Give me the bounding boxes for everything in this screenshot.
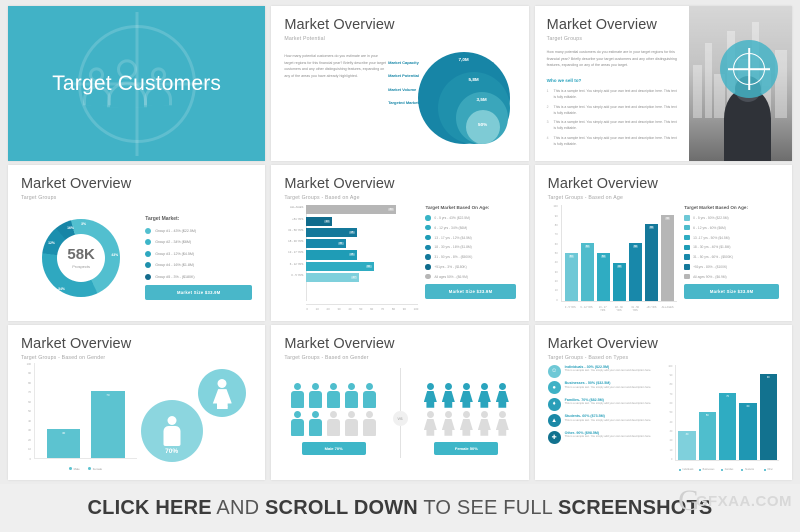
students-icon: ▲	[548, 414, 561, 427]
list-item-text: This is a sample text. You simply add yo…	[554, 136, 677, 146]
body-text: How many potential customers do you esti…	[284, 53, 386, 80]
legend-label: +51yrs - 80% - ($100K)	[693, 265, 727, 269]
y-tick: 50	[670, 411, 673, 414]
page-title: Market Overview	[21, 337, 252, 353]
city-photo	[689, 6, 792, 161]
y-tick: 70	[555, 233, 558, 236]
bar-label: ALL AGES	[284, 205, 305, 209]
legend-row: Group #1 - 43% ($22.5M)	[145, 228, 252, 234]
legend-label: 13 - 17 yrs - 12% ($4.5M)	[434, 236, 471, 240]
y-tick: 60	[670, 402, 673, 405]
bar-label: 18 - 30 YRS	[284, 239, 305, 243]
legend-dot	[684, 274, 689, 279]
page-title: Market Overview	[21, 177, 252, 193]
legend-row: 6 - 12 yrs - 34% ($6M)	[425, 225, 515, 230]
y-tick: 0	[671, 458, 672, 461]
legend-label: Group #5 - 3% - ($180K)	[155, 275, 194, 279]
legend-dot	[684, 225, 689, 230]
circle-female: 30%	[198, 369, 246, 417]
horizontal-bar-chart: ALL AGES 80 +51 YRS 23 31 - 50 YRS 45	[284, 205, 418, 312]
donut-center-label: Prospects	[67, 264, 95, 269]
y-tick: 80	[28, 382, 31, 385]
male-pictogram: Male 70%	[284, 383, 383, 455]
legend-dot	[145, 262, 151, 268]
y-tick: 20	[555, 280, 558, 283]
bar-label: 6 - 12 YRS	[284, 262, 305, 266]
item-heading: Individuals - 30% ($22.5M)	[565, 365, 652, 369]
legend-dot	[145, 274, 151, 280]
slide-donut-prospects[interactable]: Market Overview Target Groups 43% 34% 12…	[8, 165, 265, 320]
bar-row: 6 - 12 YRS 60	[306, 262, 418, 271]
x-label: ALL AGES	[661, 306, 674, 312]
x-label: +51 YRS	[645, 306, 658, 312]
legend-row: +51yrs - 80% - ($100K)	[684, 264, 779, 269]
male-icon	[327, 383, 340, 408]
bar: 30	[678, 431, 695, 460]
page-subtitle: Target Groups	[21, 195, 252, 201]
circle-male-pct: 70%	[165, 448, 178, 455]
bar-row: 13 - 17 YRS 45	[306, 250, 418, 259]
y-tick: 90	[670, 374, 673, 377]
item-heading: Other- 90% ($98.5M)	[565, 431, 652, 435]
item-heading: Families- 70% ($82.5M)	[565, 398, 652, 402]
x-label: 0 - 5 YRS	[564, 306, 577, 312]
y-tick: 90	[555, 215, 558, 218]
legend-dot	[684, 235, 689, 240]
other-icon: ✚	[548, 431, 561, 444]
x-tick: 10	[316, 307, 319, 311]
legend-row: Group #5 - 3% - ($180K)	[145, 274, 252, 280]
y-tick: 10	[670, 449, 673, 452]
vs-divider: VS	[383, 366, 417, 472]
circle-male: 70%	[141, 400, 203, 462]
legend-dot	[145, 239, 151, 245]
y-tick: 30	[670, 430, 673, 433]
y-tick: 10	[555, 289, 558, 292]
bar-value: 50	[569, 255, 574, 258]
bar: 40	[613, 263, 626, 301]
page-title: Market Overview	[284, 177, 515, 193]
male-icon	[309, 411, 322, 436]
x-axis-labels: Individuals Businesses Families Students…	[675, 469, 779, 471]
gender-bar-chart: 100 90 80 70 60 50 40 30 20 10 0	[21, 363, 137, 472]
bullet-list: 1This is a sample text. You simply add y…	[547, 88, 679, 148]
y-tick: 100	[553, 205, 557, 208]
donut-label-5: 3%	[81, 222, 86, 226]
bar: 50	[699, 412, 716, 460]
donut-legend: Target Market: Group #1 - 43% ($22.5M) G…	[141, 216, 252, 301]
legend-label: Group #3 - 12% ($4.5M)	[155, 252, 194, 256]
bar-value: 30	[686, 433, 689, 460]
bar: 60	[629, 243, 642, 300]
y-tick: 40	[28, 420, 31, 423]
y-tick: 10	[28, 448, 31, 451]
bar-value: 30	[62, 431, 65, 458]
female-icon-empty	[478, 411, 491, 436]
bar-row: ALL AGES 80	[306, 205, 418, 214]
legend-row: 6 - 12 yrs - 60% ($6M)	[684, 225, 779, 230]
circle-value-capacity: 7,0M	[459, 57, 469, 62]
donut-center: 58K Prospects	[67, 247, 95, 269]
x-label: 6 - 12 YRS	[580, 306, 593, 312]
vs-badge: VS	[393, 411, 408, 426]
bar-label: 0 - 5 YRS	[284, 273, 305, 277]
female-button[interactable]: Female 50%	[434, 442, 498, 455]
bar-label: +51 YRS	[284, 217, 305, 221]
donut-label-3: 12%	[48, 241, 55, 245]
male-button[interactable]: Male 70%	[302, 442, 366, 455]
bar: 50	[597, 253, 610, 301]
page-subtitle: Target Groups	[547, 36, 679, 42]
male-icon	[291, 411, 304, 436]
bar-value: 60	[747, 405, 750, 460]
item-desc: This is a sample text. You simply add yo…	[565, 369, 652, 374]
legend-row: 13 -17 yrs - 50% ($4.5M)	[684, 235, 779, 240]
page-subtitle: Target Groups - Based on Age	[284, 195, 515, 201]
male-icon-empty	[363, 411, 376, 436]
legend-label: 0 - 5 yrs - 43% ($22.5M)	[434, 216, 470, 220]
x-tick: 50	[359, 307, 362, 311]
y-tick: 70	[28, 391, 31, 394]
circle-value-potential: 5,8M	[469, 77, 479, 82]
bar: 80	[645, 224, 658, 300]
legend-row: 31 - 50 yrs - 60% - ($500K)	[684, 254, 779, 259]
target-customers-badge-icon	[720, 40, 778, 98]
donut-center-value: 58K	[67, 247, 95, 262]
legend-label: Group #2 - 34% ($6M)	[155, 240, 191, 244]
list-item: ● Businesses - 50% ($32.5M)This is a sam…	[548, 381, 664, 394]
bar: 60	[739, 403, 756, 460]
page-title: Market Overview	[284, 18, 515, 34]
bar-value: 50	[706, 414, 709, 460]
male-icon-empty	[327, 411, 340, 436]
bar-value: 50	[601, 255, 606, 258]
x-tick: 40	[348, 307, 351, 311]
bar: 90	[760, 374, 777, 460]
bar-value: 90	[665, 217, 670, 220]
legend-dot	[684, 215, 689, 220]
bar-value: 60	[585, 245, 590, 248]
section-heading: Who we sell to?	[547, 78, 679, 83]
businesses-icon: ●	[548, 381, 561, 394]
legend-dot	[684, 245, 689, 250]
list-item-text: This is a sample text. You simply add yo…	[554, 89, 677, 99]
y-tick: 60	[555, 243, 558, 246]
bar-value: 45	[349, 231, 355, 234]
list-item-text: This is a sample text. You simply add yo…	[554, 120, 677, 130]
legend-label: 31 - 50 yrs - 60% - ($500K)	[693, 255, 733, 259]
y-tick: 50	[555, 252, 558, 255]
item-desc: This is a sample text. You simply add yo…	[565, 402, 652, 407]
legend-dot	[425, 235, 430, 240]
legend-label: 6 - 12 yrs - 34% ($6M)	[434, 226, 467, 230]
item-heading: Students- 60% ($73.5M)	[565, 414, 652, 418]
bar-value: 40	[617, 265, 622, 268]
legend-row: 13 - 17 yrs - 12% ($4.5M)	[425, 235, 515, 240]
legend-label: 0 - 5 yrs - 50% ($22.5M)	[693, 216, 729, 220]
y-tick: 70	[670, 393, 673, 396]
list-item: ▲ Students- 60% ($73.5M)This is a sample…	[548, 414, 664, 427]
legend-row: Group #3 - 12% ($4.5M)	[145, 251, 252, 257]
bar-value: 70	[106, 393, 109, 458]
y-tick: 40	[670, 421, 673, 424]
watermark: G GFXAA.COM	[678, 486, 792, 516]
x-label: 13 - 17 YRS	[596, 306, 609, 312]
list-item: 2This is a sample text. You simply add y…	[547, 104, 679, 116]
legend-row: 31 - 50 yrs - 8% - ($500K)	[425, 254, 515, 259]
bar-value: 45	[349, 253, 355, 256]
legend-title: Target Market Based On Age:	[684, 205, 779, 210]
bar-female: 70	[91, 391, 124, 458]
x-axis-labels: 0 - 5 YRS 6 - 12 YRS 13 - 17 YRS 18 - 30…	[561, 306, 678, 312]
page-subtitle: Target Groups - Based on Gender	[21, 355, 252, 361]
x-label: Families	[718, 469, 736, 471]
legend-label: 18 - 30 yrs - 40% ($1.8M)	[693, 245, 730, 249]
legend-label: 6 - 12 yrs - 60% ($6M)	[693, 226, 726, 230]
bar-row: 18 - 30 YRS 35	[306, 239, 418, 248]
legend-dot	[425, 215, 430, 220]
list-item: 3This is a sample text. You simply add y…	[547, 119, 679, 131]
y-tick: 50	[28, 410, 31, 413]
concentric-circles-chart: Market Capacity Market Potential Market …	[386, 46, 516, 153]
female-icon-empty	[424, 411, 437, 436]
item-desc: This is a sample text. You simply add yo…	[565, 435, 652, 440]
x-tick: 100	[414, 307, 419, 311]
banner-part-2: AND	[212, 497, 265, 519]
legend-row: 0 - 5 yrs - 50% ($22.5M)	[684, 215, 779, 220]
y-tick: 60	[28, 401, 31, 404]
page-title: Market Overview	[548, 337, 779, 353]
types-list: ☺ Individuals - 30% ($22.5M)This is a sa…	[548, 365, 664, 472]
list-item: 4This is a sample text. You simply add y…	[547, 135, 679, 147]
list-item: ✚ Other- 90% ($98.5M)This is a sample te…	[548, 431, 664, 444]
bottom-banner[interactable]: CLICK HERE AND SCROLL DOWN TO SEE FULL S…	[0, 484, 800, 532]
banner-part-4: TO SEE FULL	[418, 497, 558, 519]
circle-value-volume: 3,5M	[477, 97, 487, 102]
bar-value: 80	[388, 208, 394, 211]
x-tick: 60	[370, 307, 373, 311]
slide-market-potential[interactable]: Market Overview Market Potential How man…	[271, 6, 528, 161]
gender-legend: Male Female	[34, 467, 137, 471]
x-tick: 90	[403, 307, 406, 311]
legend-row: Group #2 - 34% ($6M)	[145, 239, 252, 245]
slide-age-vbar[interactable]: Market Overview Target Groups - Based on…	[535, 165, 792, 320]
legend-title: Target Market Based On Age:	[425, 205, 515, 210]
legend-dot	[145, 228, 151, 234]
x-label: Students	[739, 469, 757, 471]
legend-row: +51yrs - 3% - ($180K)	[425, 264, 515, 269]
list-item: ♦ Families- 70% ($82.5M)This is a sample…	[548, 398, 664, 411]
bar-value: 90	[767, 376, 770, 460]
bar-row: 31 - 50 YRS 45	[306, 228, 418, 237]
legend-male: Male	[69, 467, 80, 471]
y-tick: 0	[30, 458, 31, 461]
bar: 90	[661, 215, 674, 301]
legend-label: 18 - 30 yrs - 16% ($1.8M)	[434, 245, 471, 249]
x-label: Businesses	[698, 469, 716, 471]
slide-gender-bars[interactable]: Market Overview Target Groups - Based on…	[8, 325, 265, 480]
circle-targeted-share: 50%	[466, 110, 500, 144]
bar-label: 13 - 17 YRS	[284, 250, 305, 254]
bar-row: 0 - 5 YRS 47	[306, 273, 418, 282]
page-title: Market Overview	[547, 18, 679, 34]
slide-target-groups-photo[interactable]: Market Overview Target Groups How many p…	[535, 6, 792, 161]
title-slide-label: Target Customers	[52, 72, 221, 96]
x-label: Other	[759, 469, 777, 471]
male-icon-empty	[345, 411, 358, 436]
slide-title-customers[interactable]: Target Customers	[8, 6, 265, 161]
x-tick: 80	[392, 307, 395, 311]
market-size-button[interactable]: Market Size $33.9M	[425, 284, 515, 299]
watermark-text: GFXAA.COM	[696, 493, 792, 510]
x-label: 31 - 50 YRS	[629, 306, 642, 312]
circle-value-share: 50%	[478, 122, 487, 127]
age-legend: Target Market Based On Age: 0 - 5 yrs - …	[677, 205, 779, 312]
male-icon	[291, 383, 304, 408]
bar-value: 70	[726, 395, 729, 460]
screenshot-sheet: Target Customers Market Overview Market …	[0, 0, 800, 532]
gender-circles: 30% 70%	[137, 363, 253, 472]
x-tick: 70	[381, 307, 384, 311]
y-axis-ticks: 100 90 80 70 60 50 40 30 20 10 0	[548, 205, 560, 301]
item-desc: This is a sample text. You simply add yo…	[565, 419, 652, 424]
legend-label: All ages 90% - ($6.9M)	[693, 275, 727, 279]
page-title: Market Overview	[548, 177, 779, 193]
page-title: Market Overview	[284, 337, 515, 353]
bar-value: 60	[366, 265, 372, 268]
legend-label: 31 - 50 yrs - 8% - ($500K)	[434, 255, 472, 259]
item-heading: Businesses - 50% ($32.5M)	[565, 381, 652, 385]
y-axis-ticks: 100 90 80 70 60 50 40 30 20 10 0	[663, 365, 674, 461]
legend-dot	[425, 225, 430, 230]
market-size-button[interactable]: Market Size $33.9M	[145, 285, 252, 300]
legend-dot	[145, 251, 151, 257]
legend-label: Group #1 - 43% ($22.5M)	[155, 229, 196, 233]
bar: 60	[581, 243, 594, 300]
legend-dot	[684, 264, 689, 269]
y-tick: 80	[670, 383, 673, 386]
donut-label-1: 43%	[111, 253, 118, 257]
bar-value: 80	[649, 226, 654, 229]
legend-row: All ages 50% - ($6.9M)	[425, 274, 515, 279]
page-subtitle: Target Groups - Based on Age	[548, 195, 779, 201]
banner-part-1: CLICK HERE	[88, 497, 212, 519]
y-tick: 0	[556, 299, 557, 302]
x-tick: 0	[306, 307, 308, 311]
female-icon-empty	[460, 411, 473, 436]
individuals-icon: ☺	[548, 365, 561, 378]
circle-female-pct: 30%	[217, 404, 228, 410]
male-icon	[309, 383, 322, 408]
item-desc: This is a sample text. You simply add yo…	[565, 386, 652, 391]
donut-label-4: 16%	[67, 226, 74, 230]
legend-row: 18 - 30 yrs - 16% ($1.8M)	[425, 245, 515, 250]
female-icon	[496, 383, 509, 408]
bar-value: 23	[324, 220, 330, 223]
body-text: How many potential customers do you esti…	[547, 49, 679, 69]
bar: 50	[565, 253, 578, 301]
bar-male: 30	[47, 429, 80, 458]
y-axis-ticks: 100 90 80 70 60 50 40 30 20 10 0	[21, 363, 33, 461]
y-tick: 20	[670, 439, 673, 442]
legend-label: +51yrs - 3% - ($180K)	[434, 265, 466, 269]
legend-dot	[425, 254, 430, 259]
legend-label: 13 -17 yrs - 50% ($4.5M)	[693, 236, 729, 240]
y-tick: 100	[668, 365, 672, 368]
age-legend: Target Market Based On Age: 0 - 5 yrs - …	[418, 205, 515, 312]
y-tick: 100	[27, 363, 31, 366]
y-tick: 20	[28, 439, 31, 442]
slide-age-hbar[interactable]: Market Overview Target Groups - Based on…	[271, 165, 528, 320]
female-icon	[478, 383, 491, 408]
slide-types[interactable]: Market Overview Target Groups - Based on…	[535, 325, 792, 480]
y-tick: 30	[28, 429, 31, 432]
y-tick: 30	[555, 271, 558, 274]
legend-dot	[425, 264, 430, 269]
x-label: 18 - 30 YRS	[612, 306, 625, 312]
y-tick: 80	[555, 224, 558, 227]
donut-label-2: 34%	[58, 287, 65, 291]
types-bar-chart: 100 90 80 70 60 50 40 30 20 10 0	[663, 365, 779, 472]
x-tick: 20	[327, 307, 330, 311]
x-label: Individuals	[677, 469, 695, 471]
legend-female: Female	[88, 467, 102, 471]
female-icon	[442, 383, 455, 408]
list-item: ☺ Individuals - 30% ($22.5M)This is a sa…	[548, 365, 664, 378]
female-icon	[424, 383, 437, 408]
y-tick: 40	[555, 261, 558, 264]
legend-label: Group #4 - 16% ($1.8M)	[155, 263, 194, 267]
donut-chart: 43% 34% 12% 16% 3% 58K Prospects	[21, 219, 141, 297]
legend-row: Group #4 - 16% ($1.8M)	[145, 262, 252, 268]
male-figure-icon	[163, 416, 180, 447]
x-axis-ticks: 0 10 20 30 40 50 60 70 80 90 100	[306, 304, 418, 311]
bar-label: 31 - 50 YRS	[284, 228, 305, 232]
market-size-button[interactable]: Market Size $33.9M	[684, 284, 779, 299]
legend-dot	[684, 254, 689, 259]
female-icon-empty	[442, 411, 455, 436]
slide-gender-pictogram[interactable]: Market Overview Target Groups - Based on…	[271, 325, 528, 480]
male-icon	[345, 383, 358, 408]
female-pictogram: Female 50%	[417, 383, 516, 455]
bar-value: 60	[633, 245, 638, 248]
legend-row: All ages 90% - ($6.9M)	[684, 274, 779, 279]
legend-dot	[425, 274, 430, 279]
legend-row: 18 - 30 yrs - 40% ($1.8M)	[684, 245, 779, 250]
list-item: 1This is a sample text. You simply add y…	[547, 88, 679, 100]
page-subtitle: Market Potential	[284, 36, 515, 42]
y-tick: 90	[28, 372, 31, 375]
legend-dot	[425, 245, 430, 250]
female-icon-empty	[496, 411, 509, 436]
page-subtitle: Target Groups - Based on Types	[548, 355, 779, 361]
families-icon: ♦	[548, 398, 561, 411]
bar: 70	[719, 393, 736, 460]
female-icon	[460, 383, 473, 408]
banner-part-3: SCROLL DOWN	[265, 497, 418, 519]
bar-row: +51 YRS 23	[306, 217, 418, 226]
x-tick: 30	[337, 307, 340, 311]
legend-label: All ages 50% - ($6.9M)	[434, 275, 468, 279]
person-silhouette	[724, 90, 771, 161]
slides-grid: Target Customers Market Overview Market …	[0, 0, 800, 484]
list-item-text: This is a sample text. You simply add yo…	[554, 105, 677, 115]
vertical-bar-chart: 100 90 80 70 60 50 40 30 20 10 0	[548, 205, 678, 312]
legend-row: 0 - 5 yrs - 43% ($22.5M)	[425, 215, 515, 220]
banner-text: CLICK HERE AND SCROLL DOWN TO SEE FULL S…	[88, 497, 713, 520]
page-subtitle: Target Groups - Based on Gender	[284, 355, 515, 361]
bar-value: 35	[338, 242, 344, 245]
